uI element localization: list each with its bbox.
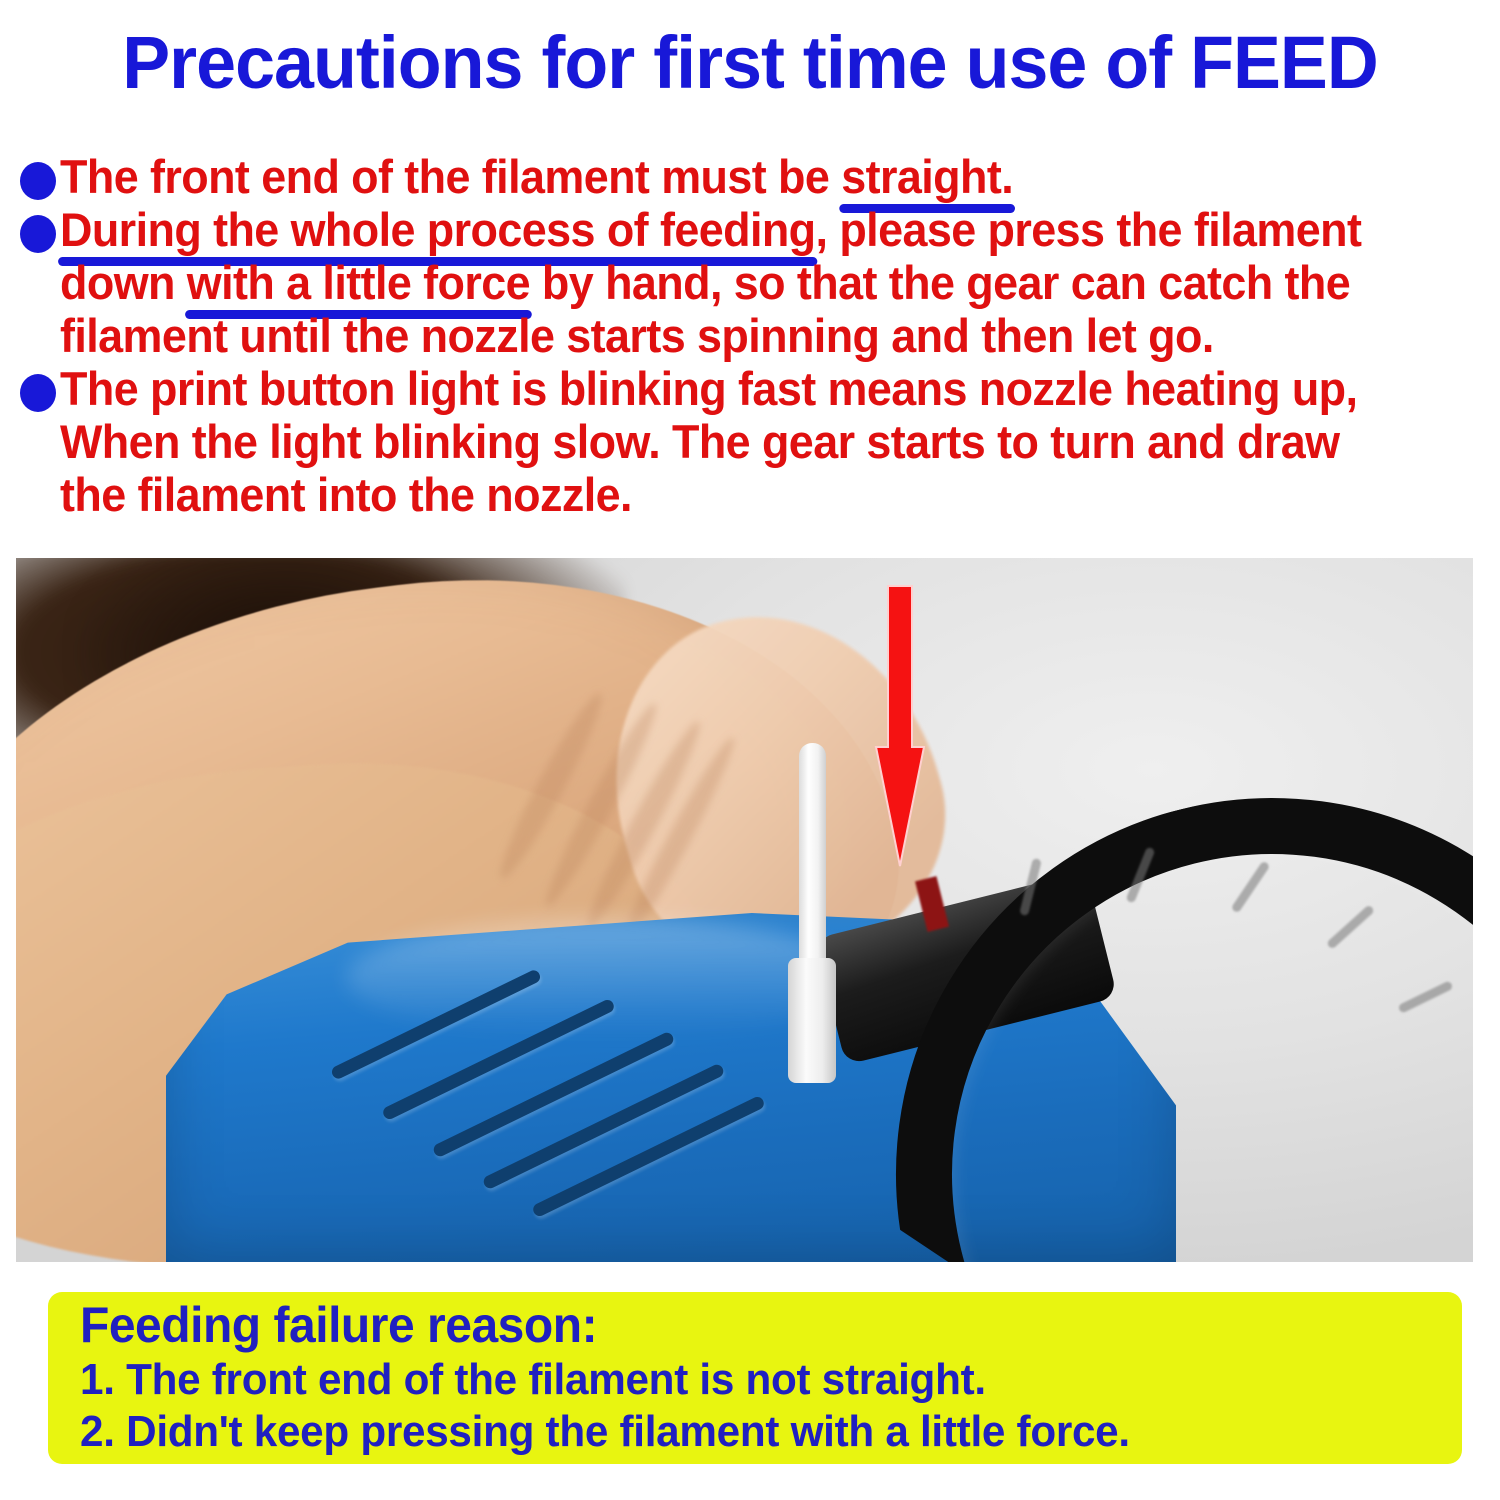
filament-ferrule — [788, 958, 836, 1083]
instruction-line: the filament into the nozzle. — [60, 468, 1435, 521]
list-item: During the whole process of feeding, ple… — [0, 203, 1500, 362]
filled-circle-bullet-icon — [20, 162, 56, 200]
failure-reason-box: Feeding failure reason: 1. The front end… — [48, 1292, 1462, 1464]
instruction-line: filament until the nozzle starts spinnin… — [60, 309, 1435, 362]
list-item: The print button light is blinking fast … — [0, 362, 1500, 521]
instruction-line: When the light blinking slow. The gear s… — [60, 415, 1435, 468]
instruction-line: During the whole process of feeding, ple… — [60, 203, 1435, 256]
instruction-text-underlined: with a little force — [187, 256, 530, 309]
instruction-text-underlined: During the whole process of feeding — [60, 203, 816, 256]
down-arrow-icon — [854, 582, 934, 872]
instruction-list: The front end of the filament must be st… — [0, 150, 1500, 521]
list-item: The front end of the filament must be st… — [0, 150, 1500, 203]
instruction-text: down — [60, 256, 187, 309]
instruction-text: , please press the filament — [816, 203, 1362, 256]
instruction-text-underlined: straight. — [841, 150, 1013, 203]
instruction-text: The front end of the filament must be — [60, 150, 841, 203]
instruction-line: down with a little force by hand, so tha… — [60, 256, 1435, 309]
failure-reason-heading: Feeding failure reason: — [80, 1296, 597, 1354]
failure-reason-item-2: 2. Didn't keep pressing the filament wit… — [80, 1406, 1130, 1458]
filled-circle-bullet-icon — [20, 374, 56, 412]
instruction-text: by hand, so that the gear can catch the — [530, 256, 1350, 309]
page-title: Precautions for first time use of FEED — [23, 24, 1478, 102]
instruction-photo — [16, 558, 1473, 1262]
instruction-line: The print button light is blinking fast … — [60, 362, 1435, 415]
filled-circle-bullet-icon — [20, 215, 56, 253]
instruction-line: The front end of the filament must be st… — [60, 150, 1435, 203]
failure-reason-item-1: 1. The front end of the filament is not … — [80, 1354, 986, 1406]
